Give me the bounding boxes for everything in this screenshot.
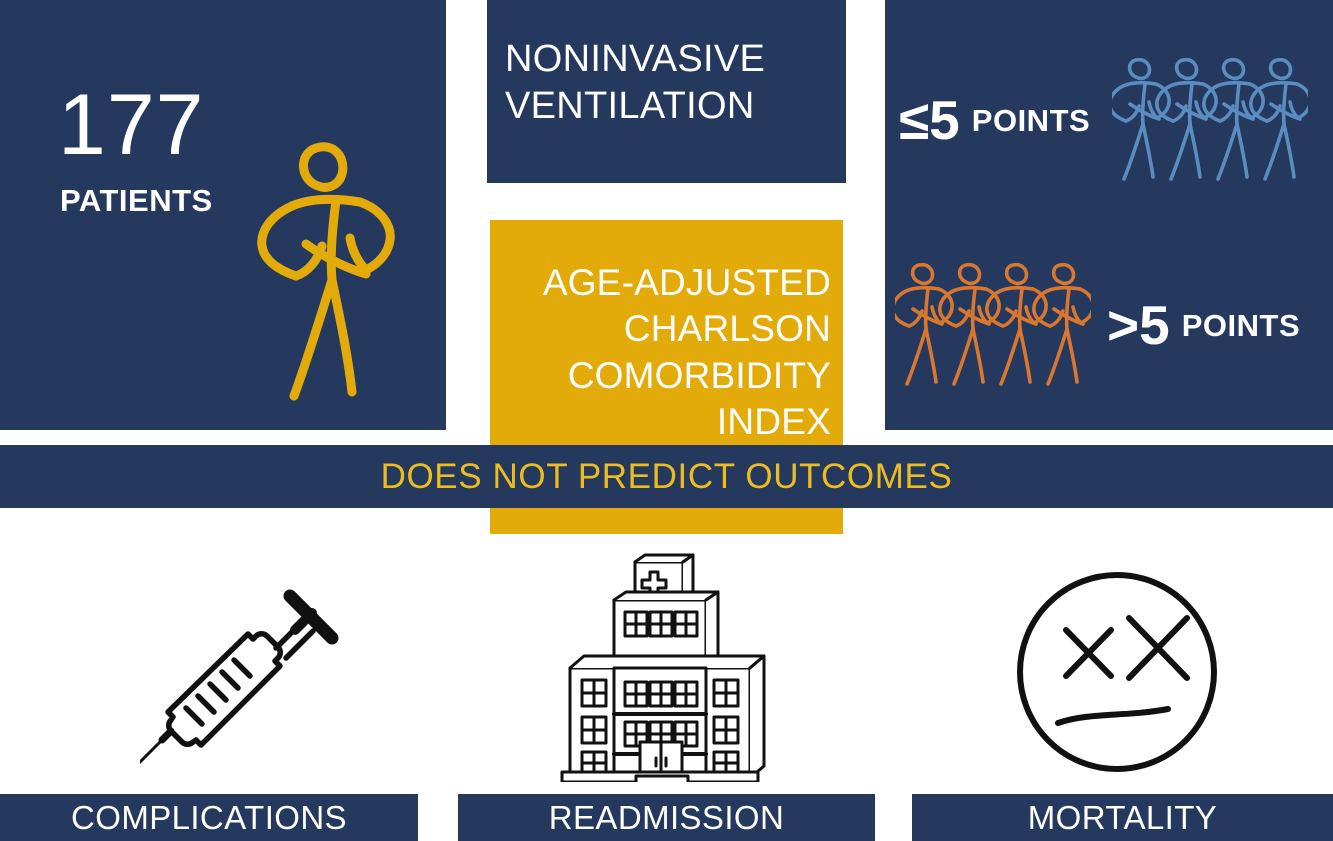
outcome-bar-readmission: READMISSION xyxy=(458,794,875,841)
outcome-bar-mortality: MORTALITY xyxy=(912,794,1333,841)
group-high-score-value: >5 xyxy=(1107,298,1170,353)
syringe-icon xyxy=(140,560,360,775)
dead-face-icon xyxy=(1010,568,1225,780)
noninvasive-ventilation-title: NONINVASIVE VENTILATION xyxy=(505,36,835,129)
outcome-label-mortality: MORTALITY xyxy=(1028,801,1217,834)
outcome-bar-complications: COMPLICATIONS xyxy=(0,794,418,841)
group-low-score-unit: POINTS xyxy=(972,105,1090,136)
patients-count: 177 xyxy=(58,82,205,168)
outcome-label-readmission: READMISSION xyxy=(549,801,784,834)
group-high-score-unit: POINTS xyxy=(1182,310,1300,341)
comorbidity-groups-panel: ≤5 POINTS xyxy=(885,0,1333,430)
group-row-low-score: ≤5 POINTS xyxy=(899,40,1319,200)
patients-label: PATIENTS xyxy=(60,185,213,216)
conclusion-banner: DOES NOT PREDICT OUTCOMES xyxy=(0,445,1333,508)
hospital-building-icon xyxy=(540,552,790,782)
outcome-label-complications: COMPLICATIONS xyxy=(71,801,347,834)
noninvasive-ventilation-panel: NONINVASIVE VENTILATION xyxy=(487,0,846,183)
group-row-high-score: >5 POINTS xyxy=(895,245,1325,405)
patients-panel: 177 PATIENTS xyxy=(0,0,446,430)
infographic-canvas: 177 PATIENTS xyxy=(0,0,1333,841)
crowd-figures-blue-icon xyxy=(1112,57,1308,183)
crowd-figures-orange-icon xyxy=(895,262,1091,388)
person-hands-on-hips-icon xyxy=(240,140,420,410)
group-low-score-value: ≤5 xyxy=(899,93,960,148)
conclusion-banner-text: DOES NOT PREDICT OUTCOMES xyxy=(0,445,1333,508)
charlson-index-title: AGE-ADJUSTED CHARLSON COMORBIDITY INDEX xyxy=(501,260,831,445)
